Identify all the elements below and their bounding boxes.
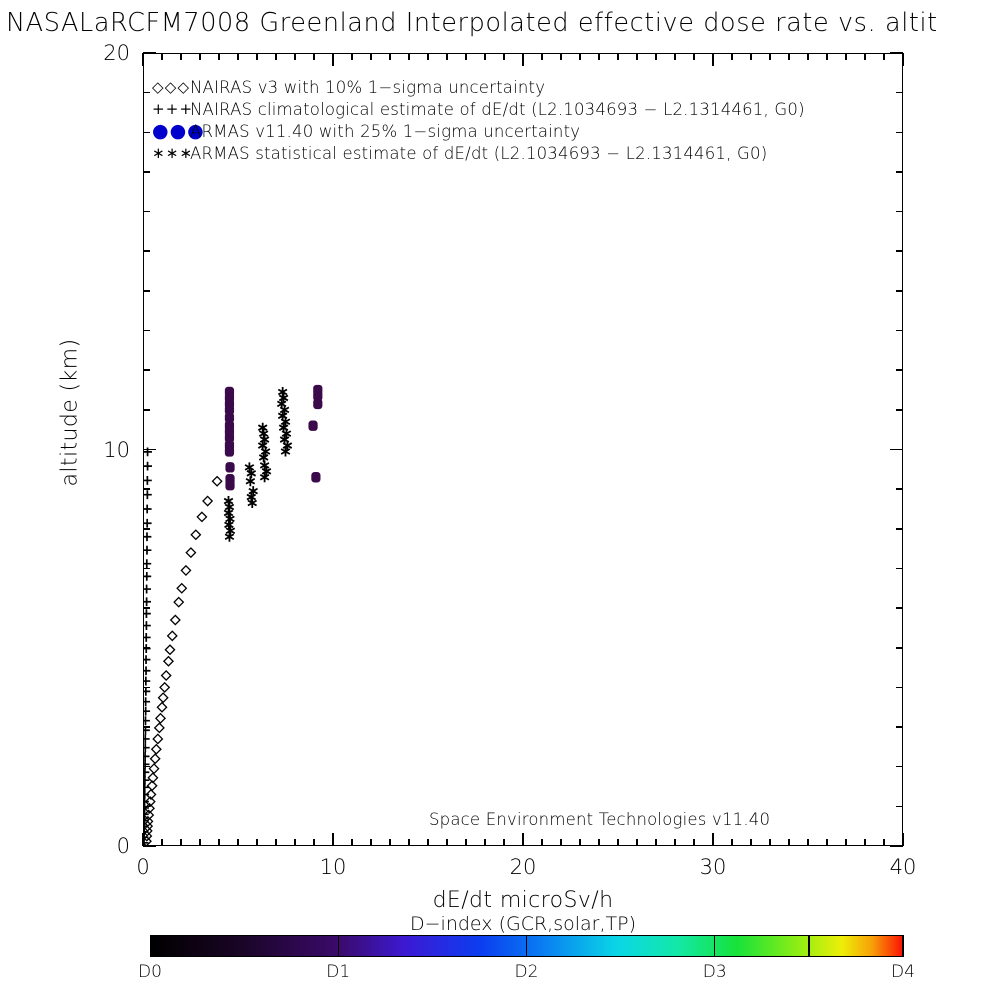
series-diamond-open <box>143 477 222 846</box>
x-tick-bottom <box>218 839 220 846</box>
x-tick-top <box>750 53 752 60</box>
x-tick-bottom <box>389 839 391 846</box>
x-tick-top <box>674 53 676 60</box>
y-tick-left <box>143 845 156 847</box>
x-tick-bottom <box>522 833 524 846</box>
credit-annotation: Space Environment Technologies v11.40 <box>429 810 770 829</box>
y-tick-right <box>896 528 903 530</box>
y-tick-left <box>143 92 150 94</box>
x-tick-top <box>693 53 695 60</box>
x-tick-bottom <box>864 839 866 846</box>
x-tick-bottom <box>294 839 296 846</box>
x-tick-bottom <box>579 839 581 846</box>
x-tick-label: 0 <box>136 855 149 879</box>
x-tick-top <box>370 53 372 60</box>
y-tick-left <box>143 766 150 768</box>
x-tick-bottom <box>370 839 372 846</box>
y-tick-left <box>143 647 150 649</box>
x-tick-top <box>598 53 600 60</box>
x-tick-label: 40 <box>890 855 917 879</box>
legend-label: ARMAS statistical estimate of dE/dt (L2.… <box>190 144 767 163</box>
x-tick-top <box>275 53 277 60</box>
x-tick-top <box>237 53 239 60</box>
y-tick-right <box>896 330 903 332</box>
y-tick-label: 0 <box>78 834 130 858</box>
x-tick-bottom <box>598 839 600 846</box>
x-tick-top <box>313 53 315 60</box>
colorbar-label: D0 <box>138 962 162 982</box>
legend-row: ◇◇◇NAIRAS v3 with 10% 1−sigma uncertaint… <box>152 76 852 98</box>
x-tick-top <box>731 53 733 60</box>
y-tick-right <box>896 369 903 371</box>
colorbar-tick <box>714 935 715 957</box>
x-tick-bottom <box>161 839 163 846</box>
y-tick-left <box>143 290 150 292</box>
legend-row: ●●●ARMAS v11.40 with 25% 1−sigma uncerta… <box>152 120 852 142</box>
y-tick-right <box>896 171 903 173</box>
colorbar-tick <box>902 935 903 957</box>
x-tick-bottom <box>769 839 771 846</box>
page-title: NASALaRCFM7008 Greenland Interpolated ef… <box>6 8 1000 38</box>
y-tick-right <box>896 211 903 213</box>
x-tick-top <box>826 53 828 60</box>
data-points-layer <box>143 53 903 846</box>
x-tick-top <box>218 53 220 60</box>
y-tick-right <box>890 449 903 451</box>
x-tick-bottom <box>617 839 619 846</box>
y-tick-right <box>896 132 903 134</box>
x-tick-top <box>579 53 581 60</box>
x-tick-top <box>332 53 334 66</box>
colorbar-label: D1 <box>326 962 350 982</box>
y-tick-left <box>143 369 150 371</box>
x-tick-top <box>560 53 562 60</box>
x-tick-bottom <box>750 839 752 846</box>
x-tick-top <box>180 53 182 60</box>
x-axis-title: dE/dt microSv/h <box>143 888 903 913</box>
y-tick-right <box>896 687 903 689</box>
y-tick-left <box>143 171 150 173</box>
x-tick-top <box>522 53 524 66</box>
legend-marker-diamond-open-icon: ◇◇◇ <box>152 80 190 95</box>
x-tick-bottom <box>237 839 239 846</box>
x-tick-bottom <box>845 839 847 846</box>
x-tick-top <box>636 53 638 60</box>
plot-canvas <box>143 53 903 846</box>
x-tick-bottom <box>712 833 714 846</box>
x-tick-top <box>427 53 429 60</box>
x-tick-bottom <box>826 839 828 846</box>
y-tick-right <box>890 52 903 54</box>
x-tick-top <box>655 53 657 60</box>
colorbar-tick <box>338 935 339 957</box>
y-tick-right <box>896 409 903 411</box>
y-tick-right <box>896 726 903 728</box>
colorbar-wrapper <box>150 935 903 957</box>
y-tick-left <box>143 52 156 54</box>
chart-page: NASALaRCFM7008 Greenland Interpolated ef… <box>0 0 1000 1000</box>
x-tick-bottom <box>408 839 410 846</box>
y-tick-left <box>143 568 150 570</box>
y-tick-left <box>143 132 150 134</box>
x-tick-bottom <box>788 839 790 846</box>
y-tick-left <box>143 528 150 530</box>
x-tick-bottom <box>465 839 467 846</box>
x-tick-top <box>712 53 714 66</box>
x-tick-top <box>161 53 163 60</box>
x-tick-bottom <box>275 839 277 846</box>
legend-label: NAIRAS climatological estimate of dE/dt … <box>190 100 805 119</box>
x-tick-top <box>408 53 410 60</box>
x-tick-top <box>769 53 771 60</box>
legend-row: +++NAIRAS climatological estimate of dE/… <box>152 98 852 120</box>
x-tick-bottom <box>180 839 182 846</box>
legend-label: ARMAS v11.40 with 25% 1−sigma uncertaint… <box>190 122 580 141</box>
x-tick-top <box>845 53 847 60</box>
x-tick-bottom <box>332 833 334 846</box>
x-tick-bottom <box>142 833 144 846</box>
y-tick-left <box>143 806 150 808</box>
y-tick-right <box>896 806 903 808</box>
legend-marker-dot-filled-icon: ●●● <box>152 124 190 139</box>
colorbar-tick <box>526 935 527 957</box>
legend: ◇◇◇NAIRAS v3 with 10% 1−sigma uncertaint… <box>152 76 852 164</box>
y-tick-left <box>143 687 150 689</box>
x-tick-bottom <box>446 839 448 846</box>
x-tick-top <box>883 53 885 60</box>
y-tick-right <box>896 488 903 490</box>
x-tick-bottom <box>503 839 505 846</box>
y-tick-label: 20 <box>78 41 130 65</box>
x-tick-top <box>484 53 486 60</box>
y-tick-left <box>143 250 150 252</box>
y-tick-right <box>896 647 903 649</box>
x-tick-bottom <box>693 839 695 846</box>
x-tick-top <box>788 53 790 60</box>
x-tick-label: 30 <box>700 855 727 879</box>
legend-marker-asterisk-icon: ∗∗∗ <box>152 146 190 161</box>
y-tick-left <box>143 726 150 728</box>
colorbar-label: D3 <box>703 962 727 982</box>
colorbar-title: D−index (GCR,solar,TP) <box>143 913 903 935</box>
x-tick-label: 20 <box>510 855 537 879</box>
colorbar-label: D4 <box>891 962 915 982</box>
x-tick-bottom <box>256 839 258 846</box>
y-tick-right <box>896 568 903 570</box>
x-tick-bottom <box>541 839 543 846</box>
colorbar-label: D2 <box>515 962 539 982</box>
x-tick-top <box>503 53 505 60</box>
x-tick-top <box>446 53 448 60</box>
y-tick-right <box>896 766 903 768</box>
x-tick-top <box>256 53 258 60</box>
y-tick-left <box>143 488 150 490</box>
x-tick-bottom <box>636 839 638 846</box>
x-tick-bottom <box>427 839 429 846</box>
x-tick-bottom <box>902 833 904 846</box>
x-tick-bottom <box>199 839 201 846</box>
x-tick-bottom <box>674 839 676 846</box>
y-tick-left <box>143 449 156 451</box>
colorbar-tick <box>808 935 809 957</box>
legend-marker-plus-icon: +++ <box>152 102 190 117</box>
x-tick-bottom <box>560 839 562 846</box>
series-dot-filled <box>225 385 323 491</box>
x-tick-top <box>351 53 353 60</box>
x-tick-top <box>864 53 866 60</box>
x-tick-top <box>199 53 201 60</box>
y-tick-left <box>143 330 150 332</box>
x-tick-bottom <box>883 839 885 846</box>
y-tick-right <box>896 607 903 609</box>
x-tick-top <box>465 53 467 60</box>
x-tick-bottom <box>351 839 353 846</box>
x-tick-bottom <box>655 839 657 846</box>
x-tick-bottom <box>807 839 809 846</box>
x-tick-top <box>294 53 296 60</box>
y-tick-right <box>890 845 903 847</box>
x-tick-top <box>902 53 904 66</box>
x-tick-top <box>617 53 619 60</box>
y-axis-title: altitude (km) <box>58 283 83 543</box>
y-tick-right <box>896 290 903 292</box>
y-tick-label: 10 <box>78 438 130 462</box>
x-tick-bottom <box>313 839 315 846</box>
y-tick-left <box>143 211 150 213</box>
y-tick-left <box>143 409 150 411</box>
x-tick-label: 10 <box>320 855 347 879</box>
x-tick-top <box>807 53 809 60</box>
y-tick-left <box>143 607 150 609</box>
legend-row: ∗∗∗ARMAS statistical estimate of dE/dt (… <box>152 142 852 164</box>
x-tick-bottom <box>731 839 733 846</box>
x-tick-bottom <box>484 839 486 846</box>
legend-label: NAIRAS v3 with 10% 1−sigma uncertainty <box>190 78 545 97</box>
x-tick-top <box>389 53 391 60</box>
y-tick-right <box>896 250 903 252</box>
x-tick-top <box>142 53 144 66</box>
x-tick-top <box>541 53 543 60</box>
y-tick-right <box>896 92 903 94</box>
